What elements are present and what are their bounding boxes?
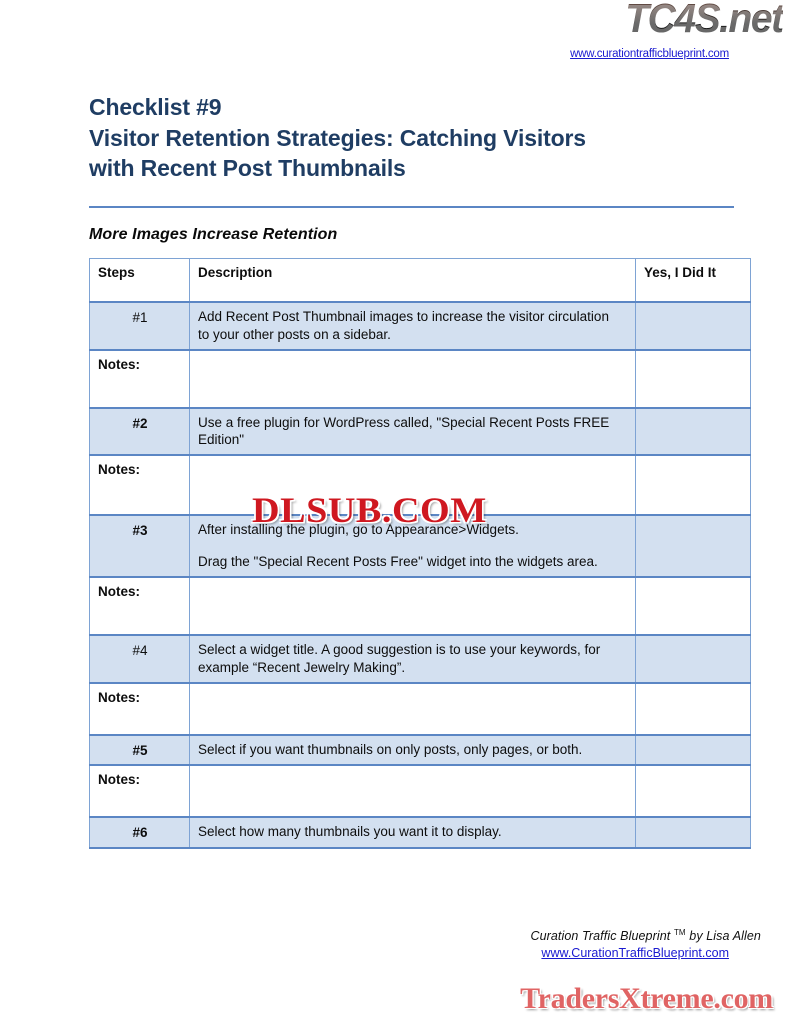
yes-i-did-it-checkbox-cell[interactable] bbox=[636, 408, 751, 456]
page-title-line-2: Visitor Retention Strategies: Catching V… bbox=[89, 123, 729, 154]
notes-input-area[interactable] bbox=[190, 577, 636, 635]
footer-credit-suffix: by Lisa Allen bbox=[686, 929, 761, 943]
step-description: Select how many thumbnails you want it t… bbox=[190, 817, 636, 848]
notes-row: Notes: bbox=[90, 765, 751, 817]
tradersxtreme-watermark: TradersXtreme.com bbox=[520, 982, 773, 1016]
yes-i-did-it-checkbox-cell[interactable] bbox=[636, 515, 751, 577]
step-description-paragraph-1: After installing the plugin, go to Appea… bbox=[198, 521, 623, 539]
page-title-line-3: with Recent Post Thumbnails bbox=[89, 153, 729, 184]
notes-row: Notes: bbox=[90, 350, 751, 408]
footer-site-link[interactable]: www.CurationTrafficBlueprint.com bbox=[0, 946, 729, 960]
table-header-row: Steps Description Yes, I Did It bbox=[90, 259, 751, 303]
notes-row: Notes: bbox=[90, 577, 751, 635]
yes-i-did-it-checkbox-cell[interactable] bbox=[636, 735, 751, 766]
page-title: Checklist #9 Visitor Retention Strategie… bbox=[89, 92, 729, 184]
step-number: #2 bbox=[90, 408, 190, 456]
notes-label: Notes: bbox=[90, 683, 190, 735]
yes-i-did-it-checkbox-cell[interactable] bbox=[636, 817, 751, 848]
notes-input-area[interactable] bbox=[190, 350, 636, 408]
checklist-table: Steps Description Yes, I Did It #1 Add R… bbox=[89, 258, 751, 849]
yes-i-did-it-checkbox-cell[interactable] bbox=[636, 765, 751, 817]
step-number: #1 bbox=[90, 302, 190, 350]
step-number: #4 bbox=[90, 635, 190, 683]
notes-input-area[interactable] bbox=[190, 455, 636, 515]
site-logo: TC4S.net bbox=[626, 0, 783, 39]
table-row: #6 Select how many thumbnails you want i… bbox=[90, 817, 751, 848]
header-site-link[interactable]: www.curationtrafficblueprint.com bbox=[570, 48, 729, 60]
yes-i-did-it-checkbox-cell[interactable] bbox=[636, 455, 751, 515]
step-number: #5 bbox=[90, 735, 190, 766]
yes-i-did-it-checkbox-cell[interactable] bbox=[636, 683, 751, 735]
step-description: Select if you want thumbnails on only po… bbox=[190, 735, 636, 766]
notes-input-area[interactable] bbox=[190, 683, 636, 735]
notes-label: Notes: bbox=[90, 350, 190, 408]
column-header-description: Description bbox=[190, 259, 636, 303]
yes-i-did-it-checkbox-cell[interactable] bbox=[636, 302, 751, 350]
step-description: Add Recent Post Thumbnail images to incr… bbox=[190, 302, 636, 350]
step-number: #6 bbox=[90, 817, 190, 848]
step-description: Use a free plugin for WordPress called, … bbox=[190, 408, 636, 456]
notes-row: Notes: bbox=[90, 683, 751, 735]
step-description-paragraph-2: Drag the "Special Recent Posts Free" wid… bbox=[198, 553, 623, 571]
yes-i-did-it-checkbox-cell[interactable] bbox=[636, 635, 751, 683]
section-heading: More Images Increase Retention bbox=[89, 226, 337, 244]
notes-label: Notes: bbox=[90, 455, 190, 515]
page-title-line-1: Checklist #9 bbox=[89, 92, 729, 123]
trademark-mark: TM bbox=[674, 928, 686, 937]
notes-label: Notes: bbox=[90, 765, 190, 817]
yes-i-did-it-checkbox-cell[interactable] bbox=[636, 350, 751, 408]
step-description: Select a widget title. A good suggestion… bbox=[190, 635, 636, 683]
footer-credit-prefix: Curation Traffic Blueprint bbox=[530, 929, 674, 943]
table-row: #2 Use a free plugin for WordPress calle… bbox=[90, 408, 751, 456]
yes-i-did-it-checkbox-cell[interactable] bbox=[636, 577, 751, 635]
notes-row: Notes: bbox=[90, 455, 751, 515]
column-header-steps: Steps bbox=[90, 259, 190, 303]
notes-input-area[interactable] bbox=[190, 765, 636, 817]
footer-credit: Curation Traffic Blueprint TM by Lisa Al… bbox=[0, 928, 761, 943]
table-row: #5 Select if you want thumbnails on only… bbox=[90, 735, 751, 766]
title-divider bbox=[89, 206, 734, 208]
table-row: #4 Select a widget title. A good suggest… bbox=[90, 635, 751, 683]
column-header-yes-i-did-it: Yes, I Did It bbox=[636, 259, 751, 303]
table-row: #3 After installing the plugin, go to Ap… bbox=[90, 515, 751, 577]
table-row: #1 Add Recent Post Thumbnail images to i… bbox=[90, 302, 751, 350]
step-number: #3 bbox=[90, 515, 190, 577]
step-description: After installing the plugin, go to Appea… bbox=[190, 515, 636, 577]
notes-label: Notes: bbox=[90, 577, 190, 635]
